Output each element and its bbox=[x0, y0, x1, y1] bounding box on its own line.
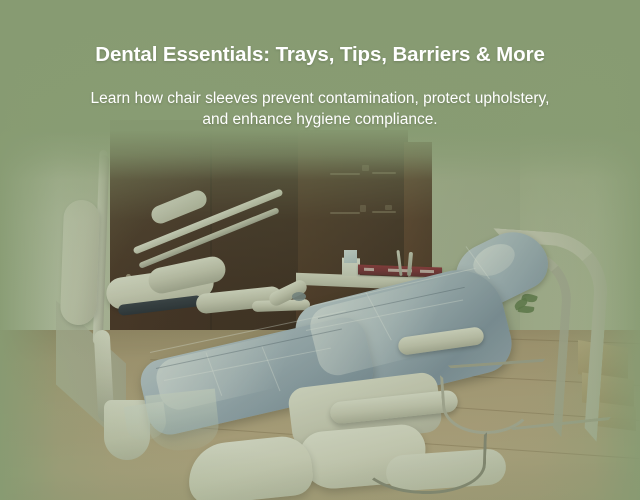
subheadline-line-1: Learn how chair sleeves prevent contamin… bbox=[91, 90, 550, 107]
cabinet-handle bbox=[372, 211, 396, 213]
cabinet-handle bbox=[330, 212, 360, 214]
secondary-chair-foot-pedal bbox=[292, 292, 306, 301]
cabinet-knob bbox=[360, 205, 366, 212]
counter-card bbox=[344, 250, 357, 263]
cabinet-handle bbox=[330, 173, 360, 175]
cabinet-knob bbox=[385, 205, 392, 210]
banner-subheadline: Learn how chair sleeves prevent contamin… bbox=[0, 68, 640, 130]
banner-text-block: Dental Essentials: Trays, Tips, Barriers… bbox=[0, 0, 640, 130]
secondary-chair-backrest bbox=[60, 199, 100, 325]
cabinet-seam bbox=[296, 130, 298, 278]
subheadline-line-2: and enhance hygiene compliance. bbox=[202, 111, 437, 128]
cabinet-handle bbox=[372, 172, 396, 174]
promo-banner: Dental Essentials: Trays, Tips, Barriers… bbox=[0, 0, 640, 500]
banner-headline: Dental Essentials: Trays, Tips, Barriers… bbox=[0, 0, 640, 68]
cabinet-knob bbox=[362, 165, 369, 171]
